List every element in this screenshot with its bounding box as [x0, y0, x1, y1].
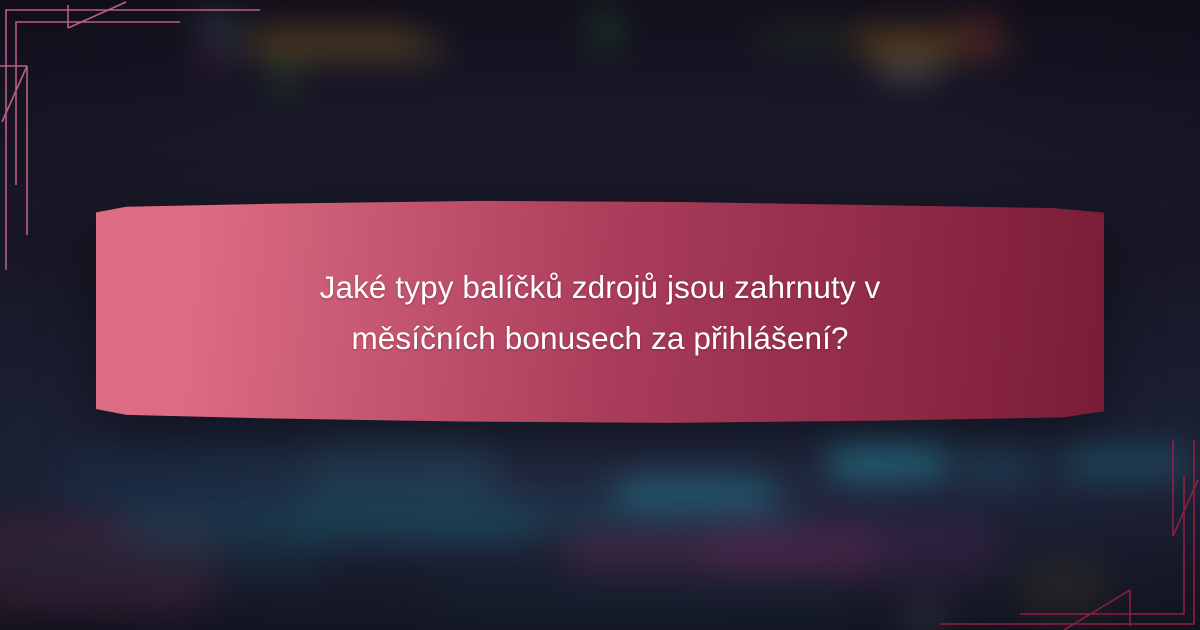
question-line-1: Jaké typy balíčků zdrojů jsou zahrnuty v — [320, 262, 881, 313]
question-card: Jaké typy balíčků zdrojů jsou zahrnuty v… — [96, 200, 1104, 426]
question-line-2: měsíčních bonusech za přihlášení? — [351, 313, 848, 364]
question-text: Jaké typy balíčků zdrojů jsou zahrnuty v… — [96, 200, 1104, 426]
share-card-canvas: Jaké typy balíčků zdrojů jsou zahrnuty v… — [0, 0, 1200, 630]
